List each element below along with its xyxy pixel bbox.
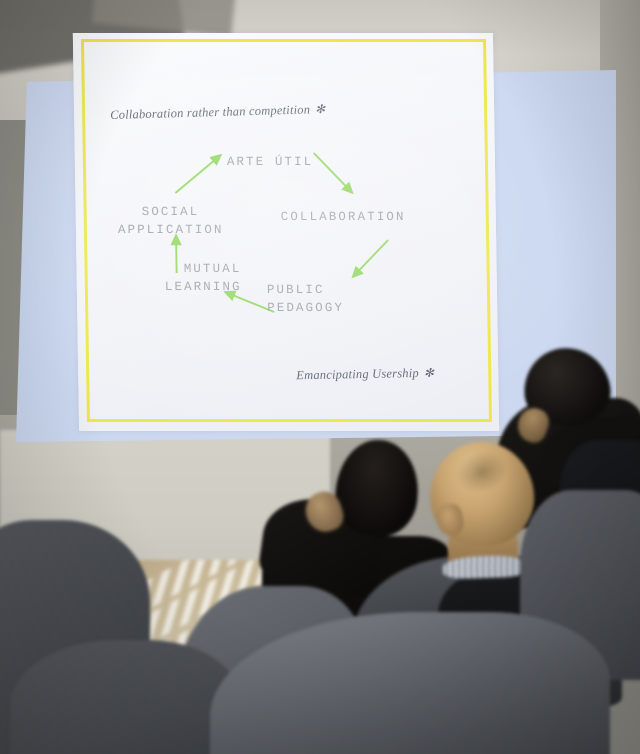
presentation-slide: Collaboration rather than competition✻ A… (73, 33, 499, 431)
node-mutual-learning: MUTUAL LEARNING (164, 260, 241, 296)
arrow-collaboration-to-public (352, 240, 389, 277)
photo-scene: Collaboration rather than competition✻ A… (0, 0, 640, 754)
asterisk-icon-bottom: ✻ (424, 366, 435, 380)
chair-left-front (10, 640, 240, 754)
node-arte-util: ARTE ÚTIL (227, 153, 314, 171)
node-social-application: SOCIAL APPLICATION (118, 203, 224, 239)
node-public-pedagogy: PUBLIC PEDAGOGY (267, 281, 344, 317)
node-collaboration: COLLABORATION (281, 208, 406, 226)
slide-bottom-note: Emancipating Usership✻ (296, 366, 434, 384)
slide-bottom-note-text: Emancipating Usership (296, 366, 419, 382)
arrow-social-to-arte (175, 155, 222, 193)
arrow-arte-to-collaboration (314, 153, 353, 193)
